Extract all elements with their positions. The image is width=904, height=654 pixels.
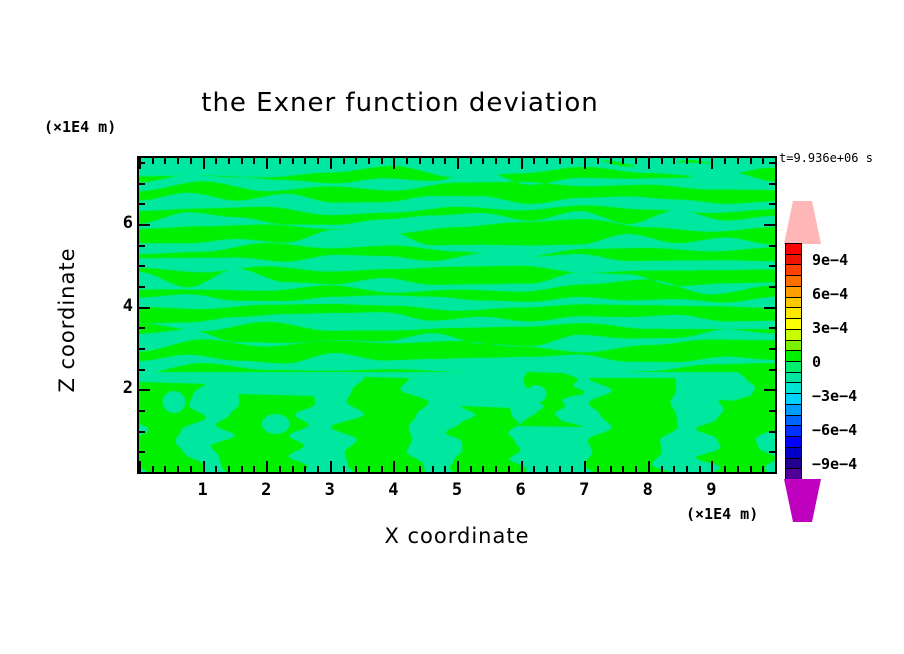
x-axis-unit-label: (×1E4 m)	[686, 505, 758, 523]
x-tick-bottom	[406, 466, 408, 472]
x-tick-bottom	[546, 466, 548, 472]
x-tick-bottom	[152, 466, 154, 472]
y-tick-right	[769, 327, 775, 329]
colorbar-band	[786, 298, 801, 309]
x-tick-top	[343, 158, 345, 164]
colorbar-band	[786, 383, 801, 394]
x-tick-top	[164, 158, 166, 164]
y-tick-left	[139, 389, 150, 391]
x-tick-top	[699, 158, 701, 164]
x-tick-top	[673, 158, 675, 164]
y-tick-left	[139, 162, 145, 164]
x-tick-bottom	[521, 461, 523, 472]
x-axis-title: X coordinate	[137, 524, 777, 548]
colorbar-band	[786, 405, 801, 416]
colorbar-band	[786, 362, 801, 373]
colorbar-tick-label: 0	[812, 353, 821, 369]
x-tick-bottom	[190, 466, 192, 472]
y-tick-label: 6	[93, 213, 133, 233]
x-tick-top	[203, 158, 205, 169]
y-tick-left	[139, 369, 145, 371]
x-tick-bottom	[343, 466, 345, 472]
x-tick-top	[266, 158, 268, 169]
x-tick-bottom	[750, 466, 752, 472]
y-tick-right	[769, 245, 775, 247]
x-tick-bottom	[470, 466, 472, 472]
x-tick-bottom	[724, 466, 726, 472]
y-tick-right	[769, 286, 775, 288]
x-tick-top	[317, 158, 319, 164]
y-tick-left	[139, 327, 145, 329]
x-tick-top	[546, 158, 548, 164]
x-tick-top	[152, 158, 154, 164]
x-tick-label: 5	[437, 480, 477, 500]
x-tick-top	[368, 158, 370, 164]
x-tick-bottom	[584, 461, 586, 472]
colorbar-band	[786, 244, 801, 255]
contour-plot-area	[137, 156, 777, 474]
x-tick-top	[711, 158, 713, 169]
colorbar-band	[786, 287, 801, 298]
y-tick-left	[139, 245, 145, 247]
x-tick-bottom	[661, 466, 663, 472]
colorbar-band	[786, 437, 801, 448]
y-tick-right	[764, 224, 775, 226]
colorbar-band	[786, 448, 801, 459]
colorbar-band	[786, 255, 801, 266]
x-tick-bottom	[610, 466, 612, 472]
y-tick-right	[764, 472, 775, 474]
x-tick-bottom	[330, 461, 332, 472]
colorbar-band	[786, 330, 801, 341]
x-tick-bottom	[775, 461, 777, 472]
x-tick-bottom	[508, 466, 510, 472]
colorbar-tick-label: −3e−4	[812, 387, 857, 403]
x-tick-bottom	[432, 466, 434, 472]
colorbar-tick-label: 3e−4	[812, 319, 848, 335]
x-tick-bottom	[164, 466, 166, 472]
x-tick-top	[762, 158, 764, 164]
x-tick-bottom	[253, 466, 255, 472]
x-tick-bottom	[355, 466, 357, 472]
colorbar-band	[786, 416, 801, 427]
x-tick-top	[533, 158, 535, 164]
x-tick-bottom	[381, 466, 383, 472]
x-tick-top	[686, 158, 688, 164]
x-tick-top	[215, 158, 217, 164]
x-tick-top	[279, 158, 281, 164]
x-tick-bottom	[457, 461, 459, 472]
colorbar-band	[786, 319, 801, 330]
y-tick-left	[139, 183, 145, 185]
x-tick-bottom	[203, 461, 205, 472]
y-tick-left	[139, 431, 145, 433]
x-tick-top	[470, 158, 472, 164]
x-tick-bottom	[737, 466, 739, 472]
x-tick-bottom	[266, 461, 268, 472]
x-tick-label: 9	[691, 480, 731, 500]
y-tick-label: 2	[93, 378, 133, 398]
x-tick-bottom	[317, 466, 319, 472]
x-tick-bottom	[393, 461, 395, 472]
x-tick-top	[482, 158, 484, 164]
y-axis-title: Z coordinate	[55, 220, 79, 420]
y-tick-label: 4	[93, 296, 133, 316]
x-tick-top	[571, 158, 573, 164]
x-tick-bottom	[533, 466, 535, 472]
x-tick-top	[330, 158, 332, 169]
x-tick-label: 6	[501, 480, 541, 500]
x-tick-label: 2	[246, 480, 286, 500]
y-tick-left	[139, 224, 150, 226]
colorbar-tick-label: −6e−4	[812, 421, 857, 437]
x-tick-bottom	[241, 466, 243, 472]
x-tick-bottom	[444, 466, 446, 472]
y-tick-right	[769, 410, 775, 412]
x-tick-top	[622, 158, 624, 164]
colorbar-band	[786, 308, 801, 319]
x-tick-bottom	[635, 466, 637, 472]
y-tick-right	[769, 162, 775, 164]
y-tick-left	[139, 410, 145, 412]
y-tick-left	[139, 451, 145, 453]
x-tick-top	[381, 158, 383, 164]
x-tick-bottom	[228, 466, 230, 472]
colorbar[interactable]	[785, 243, 802, 479]
x-tick-bottom	[495, 466, 497, 472]
x-tick-top	[737, 158, 739, 164]
x-tick-top	[635, 158, 637, 164]
y-tick-left	[139, 472, 150, 474]
x-tick-label: 3	[310, 480, 350, 500]
x-tick-bottom	[673, 466, 675, 472]
x-tick-bottom	[139, 461, 141, 472]
x-tick-bottom	[368, 466, 370, 472]
x-tick-label: 1	[183, 480, 223, 500]
x-tick-top	[190, 158, 192, 164]
x-tick-bottom	[711, 461, 713, 472]
contour-field-canvas	[139, 158, 775, 472]
x-tick-top	[304, 158, 306, 164]
x-tick-top	[495, 158, 497, 164]
x-tick-bottom	[482, 466, 484, 472]
colorbar-under-arrow	[784, 479, 821, 522]
colorbar-tick-label: 9e−4	[812, 251, 848, 267]
x-tick-top	[610, 158, 612, 164]
x-tick-label: 4	[373, 480, 413, 500]
y-tick-right	[764, 307, 775, 309]
y-tick-left	[139, 265, 145, 267]
y-tick-left	[139, 348, 145, 350]
x-tick-top	[419, 158, 421, 164]
x-tick-top	[521, 158, 523, 169]
y-tick-right	[769, 265, 775, 267]
y-tick-right	[769, 183, 775, 185]
x-tick-bottom	[559, 466, 561, 472]
x-tick-bottom	[177, 466, 179, 472]
x-tick-top	[648, 158, 650, 169]
x-tick-top	[584, 158, 586, 169]
x-tick-top	[241, 158, 243, 164]
y-tick-right	[769, 451, 775, 453]
colorbar-band	[786, 459, 801, 470]
x-tick-top	[355, 158, 357, 164]
x-tick-top	[457, 158, 459, 169]
y-tick-right	[769, 369, 775, 371]
colorbar-band	[786, 394, 801, 405]
colorbar-band	[786, 351, 801, 362]
x-tick-top	[292, 158, 294, 164]
colorbar-over-arrow	[784, 201, 821, 244]
colorbar-tick-label: 6e−4	[812, 285, 848, 301]
x-tick-top	[406, 158, 408, 164]
y-tick-right	[769, 203, 775, 205]
x-tick-bottom	[686, 466, 688, 472]
y-tick-left	[139, 307, 150, 309]
x-tick-top	[724, 158, 726, 164]
y-tick-left	[139, 203, 145, 205]
x-tick-label: 7	[564, 480, 604, 500]
colorbar-band	[786, 276, 801, 287]
y-tick-left	[139, 286, 145, 288]
x-tick-bottom	[699, 466, 701, 472]
x-tick-top	[508, 158, 510, 164]
y-tick-right	[769, 431, 775, 433]
x-tick-top	[750, 158, 752, 164]
x-tick-top	[177, 158, 179, 164]
x-tick-bottom	[571, 466, 573, 472]
x-tick-top	[228, 158, 230, 164]
x-tick-bottom	[292, 466, 294, 472]
y-tick-right	[769, 348, 775, 350]
colorbar-band	[786, 341, 801, 352]
x-tick-bottom	[648, 461, 650, 472]
x-tick-top	[432, 158, 434, 164]
x-tick-bottom	[304, 466, 306, 472]
x-tick-top	[393, 158, 395, 169]
x-tick-bottom	[622, 466, 624, 472]
colorbar-tick-label: −9e−4	[812, 455, 857, 471]
y-axis-unit-label: (×1E4 m)	[44, 118, 116, 136]
x-tick-top	[559, 158, 561, 164]
y-tick-right	[764, 389, 775, 391]
x-tick-top	[661, 158, 663, 164]
x-tick-top	[775, 158, 777, 169]
x-tick-bottom	[597, 466, 599, 472]
timestamp-annotation: t=9.936e+06 s	[779, 151, 873, 165]
colorbar-band	[786, 373, 801, 384]
x-tick-bottom	[215, 466, 217, 472]
x-tick-bottom	[279, 466, 281, 472]
x-tick-top	[597, 158, 599, 164]
x-tick-top	[444, 158, 446, 164]
page-title: the Exner function deviation	[0, 88, 852, 118]
colorbar-band	[786, 426, 801, 437]
x-tick-top	[253, 158, 255, 164]
x-tick-label: 8	[628, 480, 668, 500]
colorbar-band	[786, 265, 801, 276]
x-tick-bottom	[419, 466, 421, 472]
